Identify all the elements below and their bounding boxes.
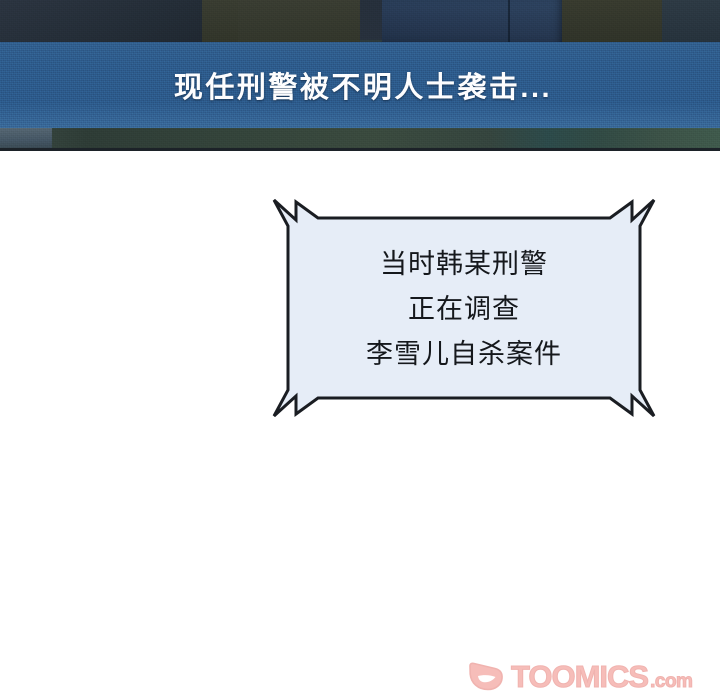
bubble-line-2: 正在调查 (408, 288, 520, 331)
panel-art-region-mid (202, 0, 360, 42)
toomics-brand-text: TOOMICS (511, 661, 648, 692)
toomics-wordmark: TOOMICS .com (511, 661, 692, 692)
panel-art-garment-fold (508, 0, 510, 42)
panel-art-garment (382, 0, 562, 42)
comic-page: 现任刑警被不明人士袭击... 当时韩某刑警 正在调查 李雪儿自杀案件 TOOMI… (0, 0, 720, 700)
headline-text: 现任刑警被不明人士袭击... (168, 64, 552, 106)
bubble-text-block: 当时韩某刑警 正在调查 李雪儿自杀案件 (262, 186, 666, 430)
narration-speech-bubble: 当时韩某刑警 正在调查 李雪儿自杀案件 (262, 186, 666, 430)
toomics-watermark: TOOMICS .com (468, 656, 712, 696)
panel-bottom-edge (0, 148, 720, 151)
toomics-logo-icon (468, 660, 504, 692)
toomics-suffix-text: .com (650, 672, 692, 691)
comic-photo-panel: 现任刑警被不明人士袭击... (0, 0, 720, 151)
bubble-line-1: 当时韩某刑警 (380, 243, 548, 286)
panel-art-region-right (562, 0, 663, 42)
bubble-line-3: 李雪儿自杀案件 (366, 333, 562, 376)
headline-banner: 现任刑警被不明人士袭击... (0, 42, 720, 128)
panel-art-region-far-right (662, 0, 720, 42)
